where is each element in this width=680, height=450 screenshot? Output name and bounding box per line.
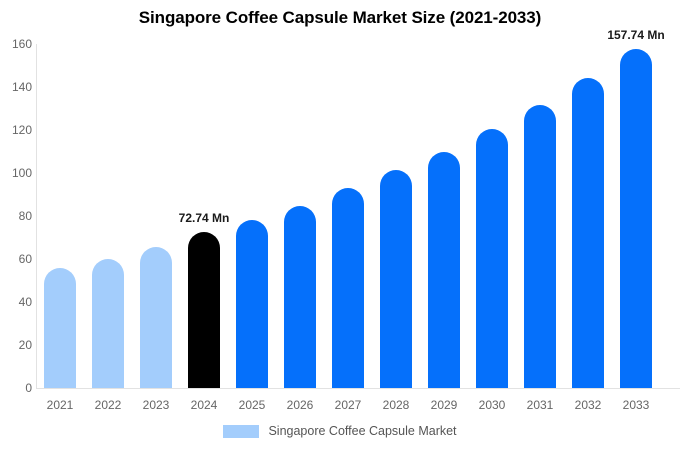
bar-column[interactable]: [620, 44, 652, 388]
x-axis-tick-label: 2027: [332, 398, 364, 412]
bar-2025[interactable]: [236, 220, 268, 388]
bar-2027[interactable]: [332, 188, 364, 388]
bar-2023[interactable]: [140, 247, 172, 388]
y-axis-tick-label: 120: [4, 124, 32, 136]
y-axis-tick-label: 40: [4, 296, 32, 308]
bar-2031[interactable]: [524, 105, 556, 388]
y-axis-tick-label: 160: [4, 38, 32, 50]
bar-2022[interactable]: [92, 259, 124, 388]
x-axis-tick-label: 2026: [284, 398, 316, 412]
bar-column[interactable]: [236, 44, 268, 388]
bar-column[interactable]: [380, 44, 412, 388]
x-axis-tick-label: 2029: [428, 398, 460, 412]
x-axis-tick-label: 2025: [236, 398, 268, 412]
y-axis: 020406080100120140160: [0, 0, 32, 450]
bar-2032[interactable]: [572, 78, 604, 388]
bar-2026[interactable]: [284, 206, 316, 388]
bar-chart: Singapore Coffee Capsule Market Size (20…: [0, 0, 680, 450]
bar-column[interactable]: [284, 44, 316, 388]
bar-value-label-2024: 72.74 Mn: [179, 211, 230, 225]
bar-column[interactable]: [428, 44, 460, 388]
y-axis-tick-label: 80: [4, 210, 32, 222]
bar-column[interactable]: [44, 44, 76, 388]
chart-title: Singapore Coffee Capsule Market Size (20…: [0, 8, 680, 28]
x-axis-tick-label: 2030: [476, 398, 508, 412]
bar-2030[interactable]: [476, 129, 508, 388]
x-axis-tick-label: 2032: [572, 398, 604, 412]
bar-column[interactable]: [572, 44, 604, 388]
x-axis-tick-label: 2022: [92, 398, 124, 412]
bar-2029[interactable]: [428, 152, 460, 389]
chart-legend: Singapore Coffee Capsule Market: [0, 424, 680, 438]
bar-2024[interactable]: [188, 232, 220, 388]
bar-column[interactable]: [524, 44, 556, 388]
bar-column[interactable]: [92, 44, 124, 388]
legend-item[interactable]: Singapore Coffee Capsule Market: [223, 424, 456, 438]
x-axis-tick-label: 2031: [524, 398, 556, 412]
bar-column[interactable]: [140, 44, 172, 388]
bar-2028[interactable]: [380, 170, 412, 388]
y-axis-tick-label: 60: [4, 253, 32, 265]
y-axis-tick-label: 100: [4, 167, 32, 179]
bar-column[interactable]: [332, 44, 364, 388]
x-axis-tick-label: 2023: [140, 398, 172, 412]
x-axis-tick-label: 2033: [620, 398, 652, 412]
y-axis-tick-label: 20: [4, 339, 32, 351]
y-axis-tick-label: 0: [4, 382, 32, 394]
x-axis-tick-label: 2021: [44, 398, 76, 412]
bar-value-label-2033: 157.74 Mn: [607, 28, 664, 42]
y-axis-tick-label: 140: [4, 81, 32, 93]
x-axis-tick-label: 2024: [188, 398, 220, 412]
x-axis-line: [36, 388, 680, 389]
x-axis-tick-label: 2028: [380, 398, 412, 412]
bar-2021[interactable]: [44, 268, 76, 388]
bar-2033[interactable]: [620, 49, 652, 388]
legend-swatch-icon: [223, 425, 259, 438]
legend-label: Singapore Coffee Capsule Market: [268, 424, 456, 438]
bar-column[interactable]: [476, 44, 508, 388]
